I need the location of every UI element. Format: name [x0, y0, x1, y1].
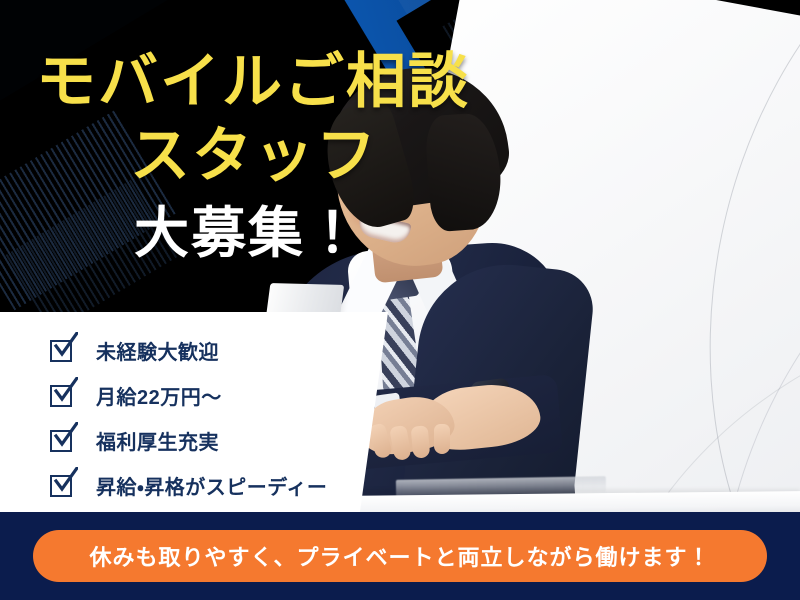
benefit-label: 福利厚生充実 — [96, 426, 219, 455]
benefit-label: 未経験大歓迎 — [96, 336, 219, 365]
finger — [411, 425, 431, 458]
benefit-item: 福利厚生充実 — [50, 418, 327, 463]
headline-line-3: 大募集！ — [134, 206, 362, 261]
benefits-checklist: 未経験大歓迎 月給22万円〜 福利厚生充実 — [50, 328, 327, 508]
headline-line-2: スタッフ — [130, 126, 378, 186]
headline-line-1: モバイルご相談 — [36, 52, 470, 112]
checkbox-checked-icon — [50, 473, 76, 499]
checkbox-checked-icon — [50, 428, 76, 454]
checkbox-checked-icon — [50, 383, 76, 409]
benefit-item: 月給22万円〜 — [50, 373, 327, 418]
benefit-label: 月給22万円〜 — [96, 381, 222, 410]
footer-message-text: 休みも取りやすく、プライベートと両立しながら働けます！ — [89, 540, 710, 572]
checkbox-checked-icon — [50, 338, 76, 364]
benefit-item: 昇給・昇格がスピーディー — [50, 463, 327, 508]
recruitment-banner: モバイルご相談 スタッフ 大募集！ 未経験大歓迎 月給22万円〜 — [0, 0, 800, 600]
footer-message-pill: 休みも取りやすく、プライベートと両立しながら働けます！ — [33, 530, 767, 582]
footer-bar: 休みも取りやすく、プライベートと両立しながら働けます！ — [0, 512, 800, 600]
finger — [434, 424, 450, 454]
benefit-label: 昇給・昇格がスピーディー — [96, 471, 327, 500]
benefit-item: 未経験大歓迎 — [50, 328, 327, 373]
